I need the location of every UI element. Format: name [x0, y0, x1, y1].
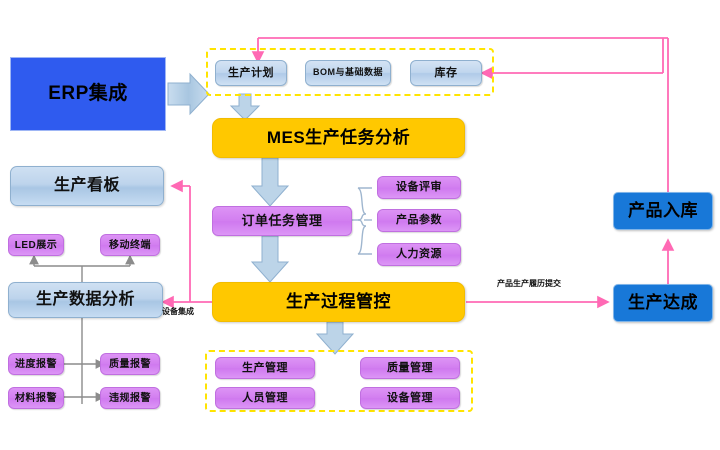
node-production-process-control[interactable]: 生产过程管控	[212, 282, 465, 322]
node-production-data-analysis[interactable]: 生产数据分析	[8, 282, 163, 318]
node-mobile-terminal[interactable]: 移动终端	[100, 234, 160, 256]
node-alarm-violation[interactable]: 违规报警	[100, 387, 160, 409]
node-led-display[interactable]: LED展示	[8, 234, 64, 256]
node-mgmt-production[interactable]: 生产管理	[215, 357, 315, 379]
node-mgmt-equipment[interactable]: 设备管理	[360, 387, 460, 409]
arrow-process-to-dashboard-analysis	[163, 186, 212, 302]
node-production-achievement[interactable]: 生产达成	[613, 284, 713, 322]
arrow-plan-to-mes	[231, 94, 259, 120]
node-mgmt-personnel[interactable]: 人员管理	[215, 387, 315, 409]
brace-order-to-attributes	[352, 188, 372, 254]
arrow-analysis-to-terminals	[34, 256, 130, 282]
arrow-mes-to-order	[252, 158, 288, 206]
arrow-analysis-to-alarms	[60, 318, 104, 404]
node-alarm-quality[interactable]: 质量报警	[100, 353, 160, 375]
node-erp[interactable]: ERP集成	[10, 57, 166, 131]
node-mgmt-quality[interactable]: 质量管理	[360, 357, 460, 379]
edge-label-product-history-submit: 产品生产履历提交	[497, 278, 561, 289]
arrow-erp-to-plan	[168, 74, 209, 114]
arrow-order-to-process	[252, 236, 288, 282]
node-mes-task-analysis[interactable]: MES生产任务分析	[212, 118, 465, 158]
node-product-parameters[interactable]: 产品参数	[377, 209, 461, 232]
node-bom-basic-data[interactable]: BOM与基础数据	[305, 60, 391, 86]
node-alarm-progress[interactable]: 进度报警	[8, 353, 64, 375]
node-product-instock[interactable]: 产品入库	[613, 192, 713, 230]
diagram-canvas: ERP集成 生产计划 BOM与基础数据 库存 MES生产任务分析 订单任务管理 …	[0, 0, 720, 450]
node-order-task-management[interactable]: 订单任务管理	[212, 206, 352, 236]
node-production-dashboard[interactable]: 生产看板	[10, 166, 164, 206]
node-alarm-material[interactable]: 材料报警	[8, 387, 64, 409]
node-production-plan[interactable]: 生产计划	[215, 60, 287, 86]
node-equipment-review[interactable]: 设备评审	[377, 176, 461, 199]
node-human-resources[interactable]: 人力资源	[377, 243, 461, 266]
node-inventory[interactable]: 库存	[410, 60, 482, 86]
edge-label-equipment-integration: 设备集成	[162, 306, 194, 317]
